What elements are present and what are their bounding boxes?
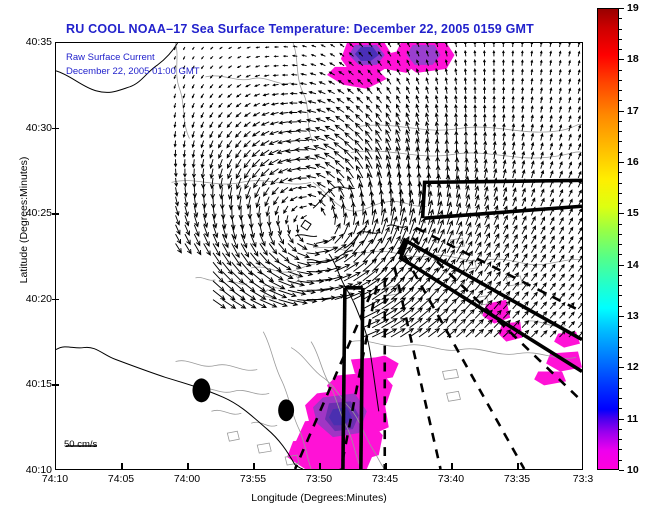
colorbar-tick-label: 10 — [627, 464, 639, 476]
x-tick-label: 74:00 — [174, 473, 200, 485]
colorbar-minor-tick — [619, 100, 622, 101]
colorbar-minor-tick — [619, 357, 622, 358]
x-tick-label: 73:45 — [372, 473, 398, 485]
colorbar-tick-mark — [619, 59, 624, 60]
colorbar-minor-tick — [619, 244, 622, 245]
colorbar-minor-tick — [619, 141, 622, 142]
y-tick-label: 40:30 — [26, 122, 52, 134]
annotation-line-2: December 22, 2005 01:00 GMT — [66, 65, 200, 79]
colorbar-tick-label: 18 — [627, 53, 639, 65]
scale-legend: 50 cm/s — [64, 439, 97, 453]
colorbar — [597, 8, 619, 470]
colorbar-minor-tick — [619, 152, 622, 153]
colorbar-minor-tick — [619, 285, 622, 286]
colorbar-minor-tick — [619, 398, 622, 399]
colorbar-minor-tick — [619, 378, 622, 379]
colorbar-minor-tick — [619, 306, 622, 307]
colorbar-tick-mark — [619, 213, 624, 214]
x-axis-label: Longitude (Degrees:Minutes) — [55, 492, 583, 504]
colorbar-minor-tick — [619, 29, 622, 30]
y-tick-mark — [52, 128, 59, 130]
annotation-line-1: Raw Surface Current — [66, 51, 200, 65]
x-tick-mark — [121, 463, 123, 470]
colorbar-tick-mark — [619, 111, 624, 112]
y-tick-label: 40:15 — [26, 378, 52, 390]
x-tick-label: 74:10 — [42, 473, 68, 485]
colorbar-minor-tick — [619, 49, 622, 50]
colorbar-tick-mark — [619, 265, 624, 266]
colorbar-tick-label: 16 — [627, 156, 639, 168]
colorbar-minor-tick — [619, 131, 622, 132]
page-title: RU COOL NOAA–17 Sea Surface Temperature:… — [0, 22, 600, 36]
colorbar-minor-tick — [619, 254, 622, 255]
colorbar-tick-mark — [619, 419, 624, 420]
colorbar-minor-tick — [619, 337, 622, 338]
x-tick-label: 73:3 — [573, 473, 593, 485]
colorbar-minor-tick — [619, 408, 622, 409]
x-tick-label: 73:55 — [240, 473, 266, 485]
map-graphics — [56, 43, 582, 469]
x-tick-label: 73:40 — [438, 473, 464, 485]
x-tick-mark — [517, 463, 519, 470]
y-tick-label: 40:20 — [26, 293, 52, 305]
colorbar-minor-tick — [619, 326, 622, 327]
colorbar-tick-label: 17 — [627, 105, 639, 117]
colorbar-tick-mark — [619, 367, 624, 368]
colorbar-minor-tick — [619, 39, 622, 40]
x-tick-mark — [253, 463, 255, 470]
colorbar-tick-label: 13 — [627, 310, 639, 322]
colorbar-minor-tick — [619, 295, 622, 296]
colorbar-tick-label: 19 — [627, 2, 639, 14]
sst-map-figure: RU COOL NOAA–17 Sea Surface Temperature:… — [0, 0, 651, 519]
colorbar-tick-label: 15 — [627, 207, 639, 219]
x-tick-mark — [451, 463, 453, 470]
colorbar-minor-tick — [619, 449, 622, 450]
colorbar-minor-tick — [619, 80, 622, 81]
scale-arrow-icon — [64, 439, 97, 453]
colorbar-tick-mark — [619, 8, 624, 9]
y-tick-label: 40:25 — [26, 207, 52, 219]
colorbar-minor-tick — [619, 18, 622, 19]
colorbar-minor-tick — [619, 275, 622, 276]
colorbar-tick-label: 14 — [627, 259, 639, 271]
y-tick-label: 40:35 — [26, 36, 52, 48]
colorbar-tick-label: 12 — [627, 361, 639, 373]
y-tick-mark — [52, 384, 59, 386]
x-tick-mark — [187, 463, 189, 470]
y-axis-ticks: 40:3540:3040:2540:2040:1540:10 — [0, 42, 52, 470]
colorbar-minor-tick — [619, 347, 622, 348]
x-tick-mark — [385, 463, 387, 470]
colorbar-minor-tick — [619, 429, 622, 430]
colorbar-minor-tick — [619, 460, 622, 461]
colorbar-minor-tick — [619, 172, 622, 173]
y-tick-mark — [52, 299, 59, 301]
colorbar-minor-tick — [619, 183, 622, 184]
radar-station-markers — [192, 378, 294, 421]
raw-current-annotation: Raw Surface Current December 22, 2005 01… — [66, 51, 200, 79]
x-tick-mark — [319, 463, 321, 470]
colorbar-tick-mark — [619, 162, 624, 163]
colorbar-minor-tick — [619, 439, 622, 440]
colorbar-minor-tick — [619, 388, 622, 389]
colorbar-minor-tick — [619, 90, 622, 91]
x-tick-label: 73:35 — [504, 473, 530, 485]
x-tick-label: 74:05 — [108, 473, 134, 485]
colorbar-tick-mark — [619, 470, 624, 471]
map-plot-area[interactable]: Raw Surface Current December 22, 2005 01… — [55, 42, 583, 470]
x-tick-label: 73:50 — [306, 473, 332, 485]
colorbar-minor-tick — [619, 70, 622, 71]
colorbar-minor-tick — [619, 234, 622, 235]
colorbar-minor-tick — [619, 193, 622, 194]
y-tick-mark — [52, 213, 59, 215]
colorbar-tick-mark — [619, 316, 624, 317]
colorbar-minor-tick — [619, 224, 622, 225]
colorbar-minor-tick — [619, 121, 622, 122]
colorbar-minor-tick — [619, 203, 622, 204]
colorbar-tick-label: 11 — [627, 413, 638, 425]
